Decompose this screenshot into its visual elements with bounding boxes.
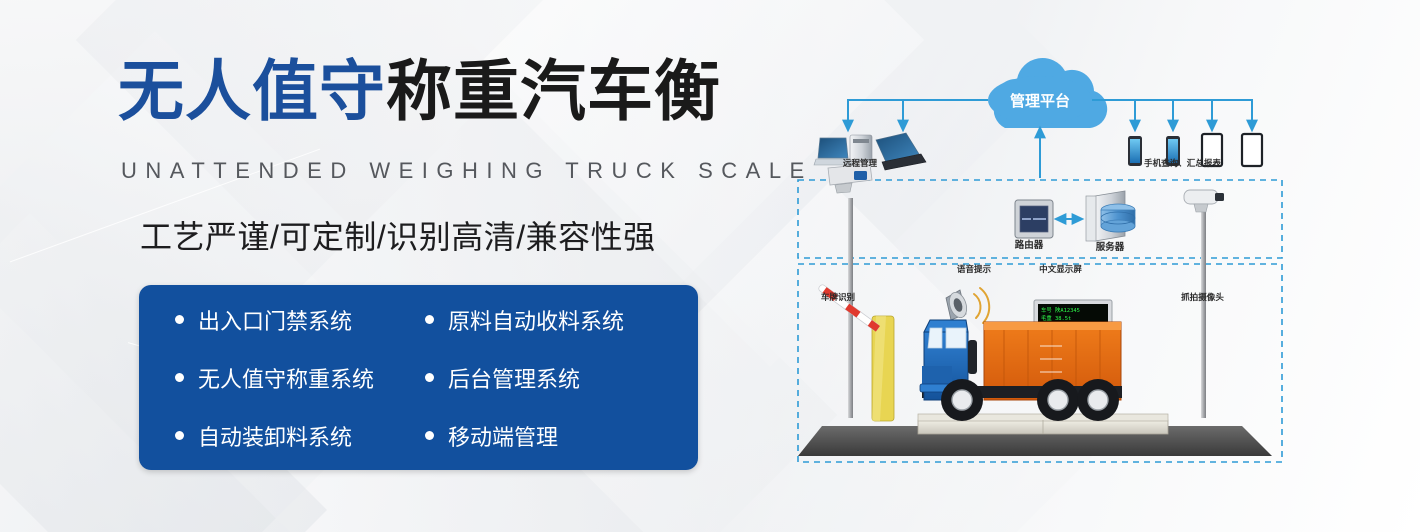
banner-root: 无人值守称重汽车衡 UNATTENDED WEIGHING TRUCK SCAL…	[0, 0, 1420, 532]
label-mobile-query: 手机查询、汇总报表	[1144, 156, 1221, 168]
label-server: 服务器	[1096, 238, 1125, 252]
feature-item: 自动装卸料系统	[175, 407, 425, 465]
laptop-icon	[876, 133, 926, 170]
label-router: 路由器	[1015, 236, 1044, 250]
router-icon	[1015, 200, 1053, 238]
bullet-icon	[175, 431, 184, 440]
label-snapshot-camera: 抓拍摄像头	[1181, 290, 1224, 302]
feature-item-label: 自动装卸料系统	[198, 420, 352, 452]
barrier-gate	[818, 284, 894, 421]
feature-item-label: 无人值守称重系统	[198, 362, 374, 394]
feature-item-label: 移动端管理	[448, 420, 558, 452]
bullet-icon	[175, 315, 184, 324]
smartphone-icon	[1128, 136, 1142, 166]
svg-text:管理平台: 管理平台	[1010, 92, 1070, 110]
label-remote-management: 远程管理	[843, 156, 877, 168]
page-title: 无人值守称重汽车衡	[118, 58, 721, 124]
server-icon	[1086, 191, 1135, 241]
truck-illustration	[920, 320, 1122, 421]
bullet-icon	[175, 373, 184, 382]
feature-item: 原料自动收料系统	[425, 291, 698, 349]
feature-item-label: 后台管理系统	[448, 362, 580, 394]
label-voice-prompt: 语音提示	[957, 262, 991, 274]
page-subtitle: UNATTENDED WEIGHING TRUCK SCALE	[121, 158, 813, 184]
title-highlight: 无人值守	[118, 54, 386, 128]
truck-wheel	[1037, 379, 1079, 421]
feature-item-label: 原料自动收料系统	[448, 304, 624, 336]
truck-wheel	[1077, 379, 1119, 421]
title-rest: 称重汽车衡	[386, 54, 721, 128]
label-plate-recognition: 车牌识别	[821, 290, 855, 302]
bullet-icon	[425, 315, 434, 324]
feature-item: 出入口门禁系统	[175, 291, 425, 349]
system-architecture-diagram: 管理平台	[790, 28, 1290, 488]
cloud-platform-node: 管理平台	[988, 58, 1107, 128]
label-led-display: 中文显示屏	[1039, 262, 1082, 274]
bullet-icon	[425, 431, 434, 440]
tablet-icon	[1242, 134, 1262, 166]
feature-item-label: 出入口门禁系统	[198, 304, 352, 336]
voice-prompt-speaker-icon	[946, 288, 989, 323]
page-tagline: 工艺严谨/可定制/识别高清/兼容性强	[140, 212, 656, 258]
led-row: 毛重 38.5t	[1041, 314, 1071, 322]
truck-wheel	[941, 379, 983, 421]
led-row: 车号 陕A12345	[1041, 306, 1080, 314]
snapshot-camera-icon	[1184, 190, 1224, 418]
feature-item: 后台管理系统	[425, 349, 698, 407]
bullet-icon	[425, 373, 434, 382]
feature-list-box: 出入口门禁系统 原料自动收料系统 无人值守称重系统 后台管理系统 自动装卸料系统…	[139, 285, 698, 470]
feature-item: 无人值守称重系统	[175, 349, 425, 407]
feature-item: 移动端管理	[425, 407, 698, 465]
